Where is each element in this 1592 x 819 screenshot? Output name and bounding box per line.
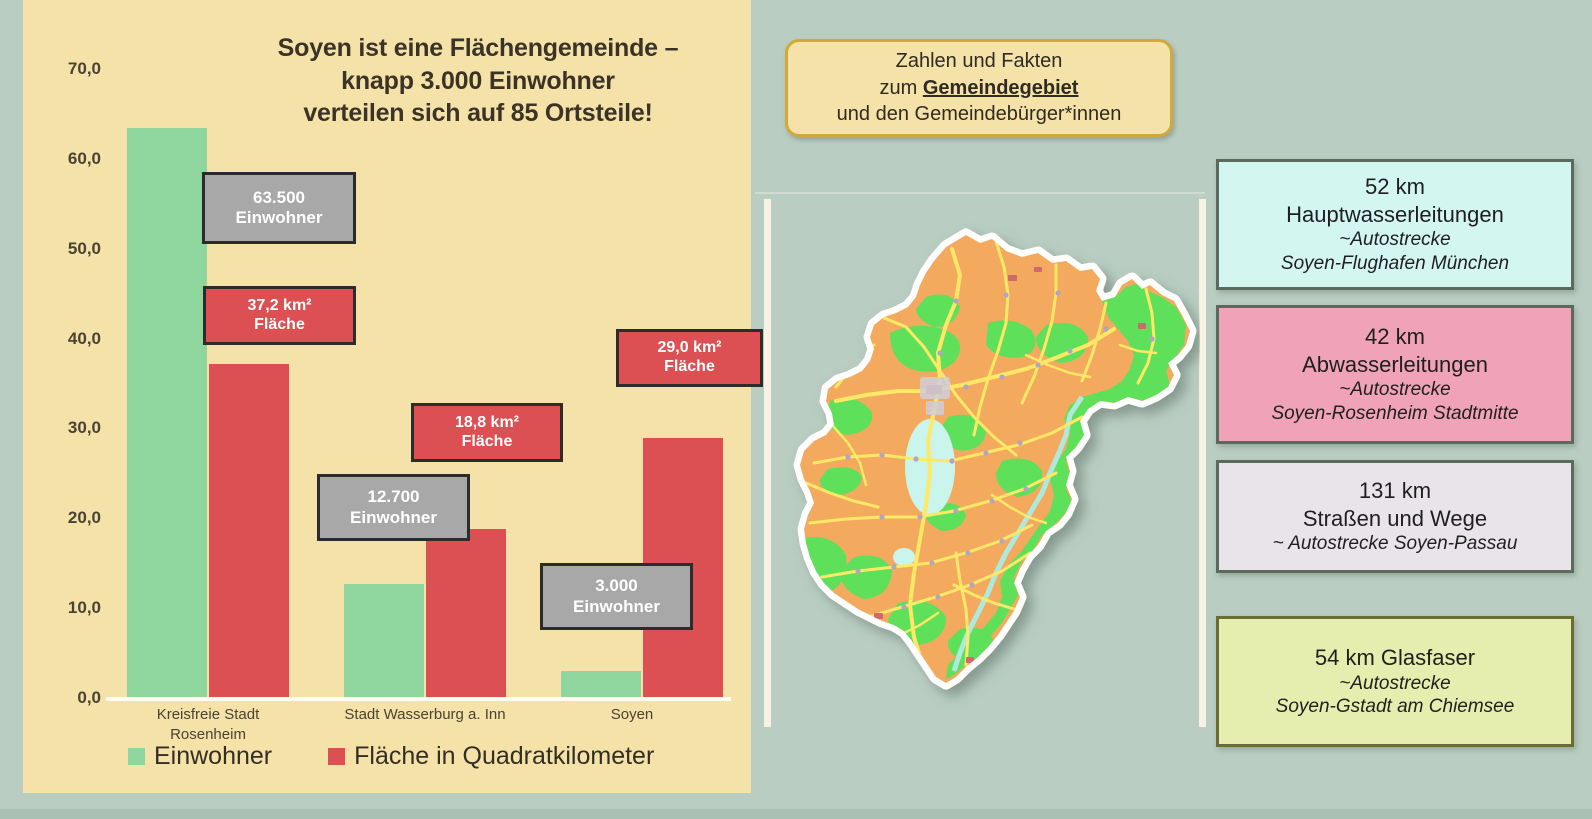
callout-unit: Einwohner bbox=[236, 208, 323, 228]
fact-note-1: ~Autostrecke bbox=[1339, 672, 1450, 696]
callout-unit: Einwohner bbox=[350, 508, 437, 528]
header-line-2-emphasis: Gemeindegebiet bbox=[923, 77, 1079, 99]
legend-label: Einwohner bbox=[154, 742, 272, 771]
x-axis-line bbox=[106, 697, 731, 701]
bar-flaeche-wasserburg bbox=[426, 529, 506, 698]
fact-panel-abwasserleitungen: 42 km Abwasserleitungen ~Autostrecke Soy… bbox=[1216, 305, 1574, 444]
header-callout-box: Zahlen und Fakten zum Gemeindegebiet und… bbox=[785, 39, 1173, 137]
map-right-rule bbox=[1199, 199, 1206, 727]
legend-swatch-red-icon bbox=[328, 748, 345, 765]
fact-panel-hauptwasserleitungen: 52 km Hauptwasserleitungen ~Autostrecke … bbox=[1216, 159, 1574, 290]
plot-area: 0,0 10,0 20,0 30,0 40,0 50,0 60,0 70,0 6… bbox=[23, 0, 751, 793]
legend-item-flaeche[interactable]: Fläche in Quadratkilometer bbox=[328, 742, 654, 771]
callout-unit: Fläche bbox=[254, 316, 305, 335]
y-tick-10: 10,0 bbox=[23, 598, 101, 618]
bar-einwohner-rosenheim bbox=[127, 128, 207, 698]
fact-label: Abwasserleitungen bbox=[1302, 351, 1488, 379]
callout-value: 63.500 bbox=[253, 188, 305, 208]
y-tick-40: 40,0 bbox=[23, 329, 101, 349]
fact-label: Straßen und Wege bbox=[1303, 505, 1487, 533]
fact-label: Hauptwasserleitungen bbox=[1286, 201, 1504, 229]
callout-unit: Fläche bbox=[462, 433, 513, 452]
fact-note-1: ~Autostrecke bbox=[1339, 228, 1450, 252]
gemeindegebiet-map bbox=[770, 205, 1200, 725]
x-category-wasserburg: Stadt Wasserburg a. Inn bbox=[315, 705, 535, 725]
callout-einwohner-soyen: 3.000 Einwohner bbox=[540, 563, 693, 630]
header-line-2-prefix: zum bbox=[880, 77, 923, 99]
bar-flaeche-rosenheim bbox=[209, 364, 289, 698]
callout-value: 29,0 km² bbox=[657, 339, 721, 358]
header-line-3: und den Gemeindebürger*innen bbox=[837, 101, 1122, 127]
callout-unit: Einwohner bbox=[573, 597, 660, 617]
y-tick-60: 60,0 bbox=[23, 149, 101, 169]
bar-einwohner-wasserburg bbox=[344, 584, 424, 698]
map-svg bbox=[770, 205, 1200, 725]
callout-flaeche-rosenheim: 37,2 km² Fläche bbox=[203, 286, 356, 345]
x-category-line-1: Kreisfreie Stadt bbox=[118, 705, 298, 725]
fact-note-2: Soyen-Flughafen München bbox=[1281, 252, 1509, 276]
header-line-2: zum Gemeindegebiet bbox=[880, 75, 1079, 101]
callout-value: 37,2 km² bbox=[247, 297, 311, 316]
bar-chart-panel: Soyen ist eine Flächengemeinde – knapp 3… bbox=[23, 0, 751, 793]
callout-value: 18,8 km² bbox=[455, 414, 519, 433]
callout-einwohner-wasserburg: 12.700 Einwohner bbox=[317, 474, 470, 541]
callout-value: 12.700 bbox=[368, 487, 420, 507]
callout-einwohner-rosenheim: 63.500 Einwohner bbox=[202, 172, 356, 244]
infographic-root: Soyen ist eine Flächengemeinde – knapp 3… bbox=[0, 0, 1592, 819]
x-category-soyen: Soyen bbox=[552, 705, 712, 725]
fact-note-1: ~Autostrecke bbox=[1339, 378, 1450, 402]
x-category-line-1: Stadt Wasserburg a. Inn bbox=[315, 705, 535, 725]
fact-value: 42 km bbox=[1365, 323, 1425, 351]
header-line-1: Zahlen und Fakten bbox=[896, 48, 1063, 74]
y-tick-20: 20,0 bbox=[23, 508, 101, 528]
legend-swatch-green-icon bbox=[128, 748, 145, 765]
callout-flaeche-soyen: 29,0 km² Fläche bbox=[616, 329, 763, 387]
fact-note-2: Soyen-Gstadt am Chiemsee bbox=[1276, 695, 1515, 719]
callout-value: 3.000 bbox=[595, 576, 638, 596]
x-category-rosenheim: Kreisfreie Stadt Rosenheim bbox=[118, 705, 298, 746]
legend-label: Fläche in Quadratkilometer bbox=[354, 742, 654, 771]
fact-panel-glasfaser: 54 km Glasfaser ~Autostrecke Soyen-Gstad… bbox=[1216, 616, 1574, 747]
map-body bbox=[788, 235, 1190, 683]
fact-note-1: ~ Autostrecke Soyen-Passau bbox=[1273, 532, 1518, 556]
callout-flaeche-wasserburg: 18,8 km² Fläche bbox=[411, 403, 563, 462]
y-tick-50: 50,0 bbox=[23, 239, 101, 259]
map-lake-small bbox=[893, 548, 915, 566]
fact-value: 52 km bbox=[1365, 173, 1425, 201]
bottom-accent-strip bbox=[0, 809, 1592, 819]
legend-item-einwohner[interactable]: Einwohner bbox=[128, 742, 272, 771]
callout-unit: Fläche bbox=[664, 358, 715, 377]
fact-panel-strassen-und-wege: 131 km Straßen und Wege ~ Autostrecke So… bbox=[1216, 460, 1574, 573]
y-tick-0: 0,0 bbox=[23, 688, 101, 708]
map-top-divider bbox=[755, 192, 1205, 194]
fact-value: 54 km Glasfaser bbox=[1315, 644, 1475, 672]
x-category-line-1: Soyen bbox=[552, 705, 712, 725]
y-tick-70: 70,0 bbox=[23, 59, 101, 79]
y-tick-30: 30,0 bbox=[23, 418, 101, 438]
fact-value: 131 km bbox=[1359, 477, 1431, 505]
bar-einwohner-soyen bbox=[561, 671, 641, 698]
chart-legend: Einwohner Fläche in Quadratkilometer bbox=[128, 742, 654, 771]
fact-note-2: Soyen-Rosenheim Stadtmitte bbox=[1271, 402, 1518, 426]
